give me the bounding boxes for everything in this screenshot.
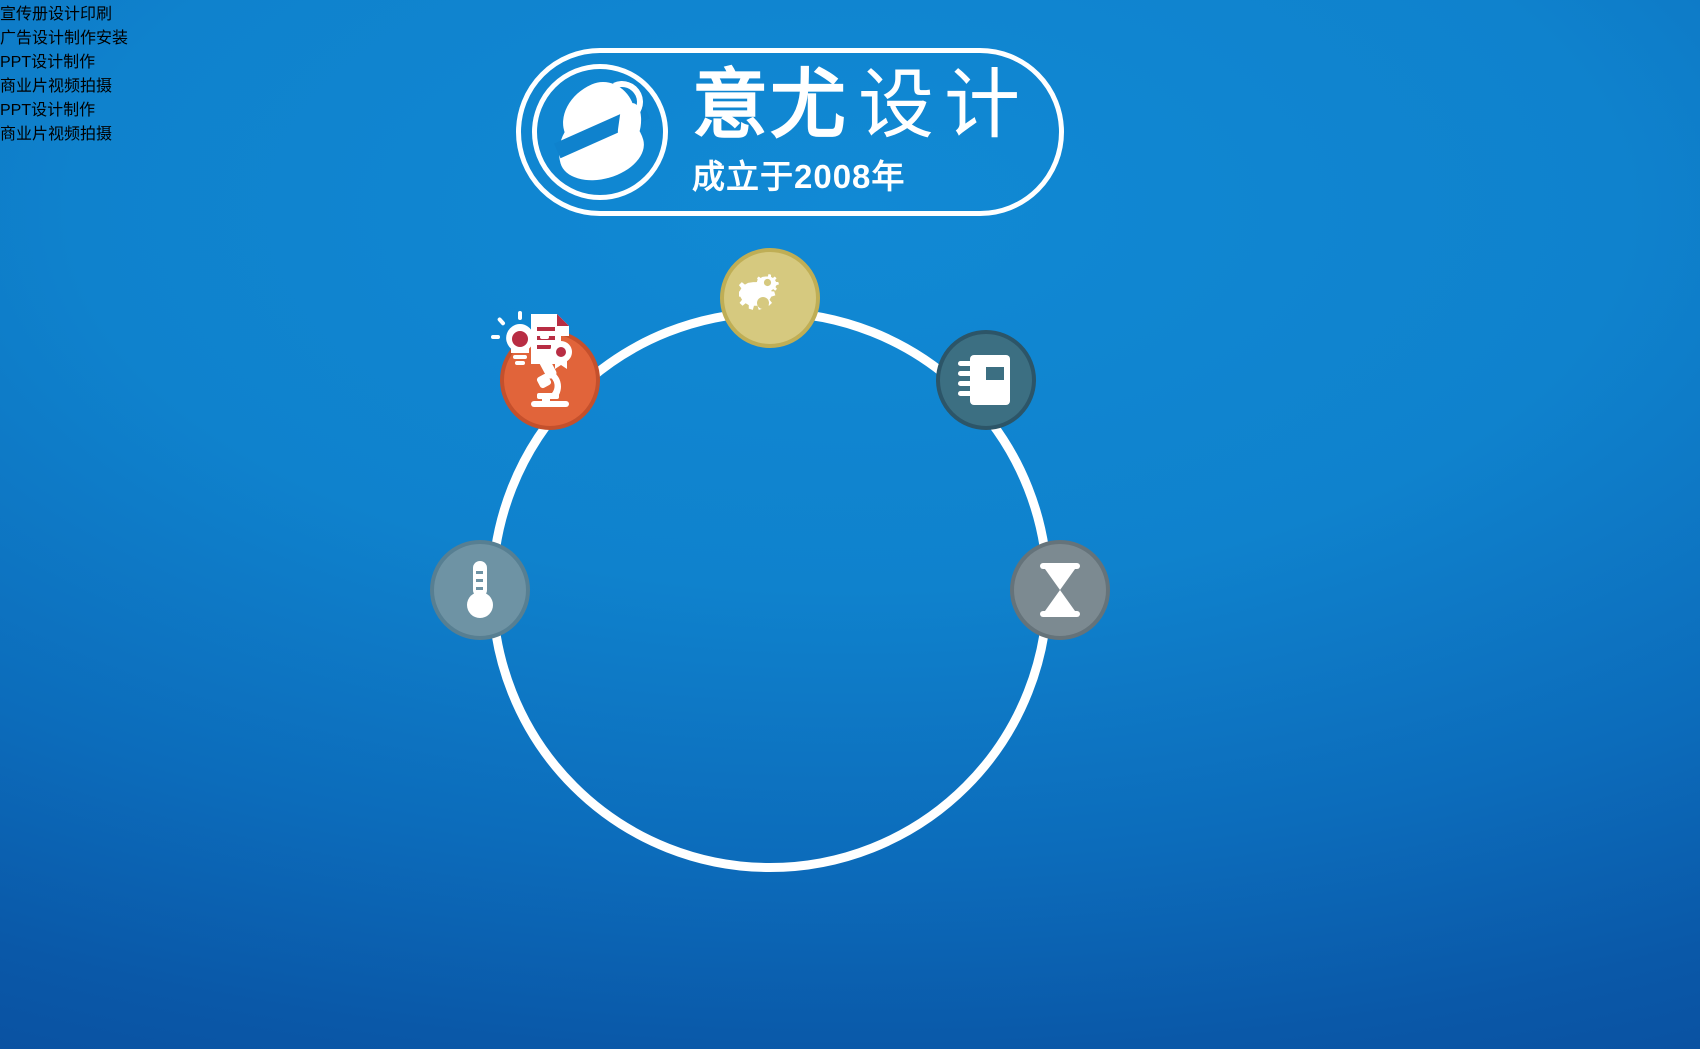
brand-logo: 意尤设计 成立于2008年	[516, 48, 1064, 216]
process-circle-diagram	[470, 290, 1070, 890]
services-left-column: 宣传册设计印刷 广告设计制作安装	[0, 0, 1700, 48]
node-hourglass[interactable]	[1010, 540, 1110, 640]
node-notebook[interactable]	[936, 330, 1036, 430]
hourglass-icon	[1036, 561, 1084, 619]
node-thermometer[interactable]	[430, 540, 530, 640]
logo-text-group: 意尤设计 成立于2008年	[692, 62, 1048, 198]
logo-title-thin: 设计	[858, 63, 1030, 148]
node-gears[interactable]	[720, 248, 820, 348]
logo-title: 意尤设计	[692, 68, 1048, 144]
notebook-icon	[958, 351, 1014, 409]
node-lightbulb[interactable]	[470, 290, 570, 390]
slide-canvas: 意尤设计 成立于2008年	[0, 0, 1700, 1049]
logo-title-bold: 意尤	[692, 63, 848, 148]
thermometer-icon	[462, 559, 498, 621]
gears-icon	[739, 269, 801, 327]
services-left-line1: 宣传册设计印刷	[0, 0, 1700, 24]
lightbulb-icon	[491, 311, 549, 369]
logo-subtitle: 成立于2008年	[692, 150, 1048, 198]
services-left-line2: 广告设计制作安装	[0, 24, 1700, 48]
leaf-swirl-mark-icon	[532, 64, 668, 200]
